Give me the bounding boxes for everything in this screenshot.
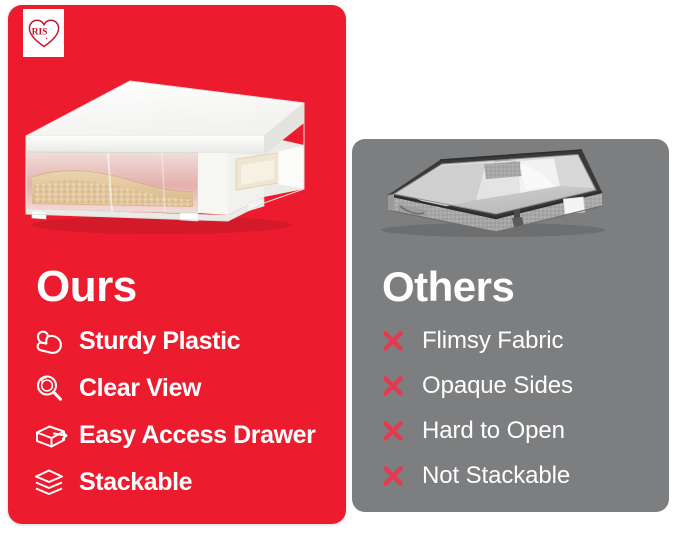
stacked-layers-icon — [33, 466, 73, 500]
cross-mark-icon — [381, 459, 415, 493]
feature-label: Flimsy Fabric — [422, 329, 563, 353]
ours-heading: Ours — [36, 265, 137, 309]
svg-text:RIS: RIS — [31, 28, 47, 38]
others-heading: Others — [382, 266, 514, 308]
others-feature-flimsy-fabric: Flimsy Fabric — [381, 318, 666, 363]
ours-product-image — [12, 73, 312, 238]
others-feature-hard-to-open: Hard to Open — [381, 408, 666, 453]
cross-mark-icon — [381, 324, 415, 358]
open-drawer-icon — [33, 419, 73, 453]
feature-label: Clear View — [79, 376, 201, 401]
feature-label: Hard to Open — [422, 419, 565, 443]
feature-label: Stackable — [79, 470, 192, 495]
brand-logo-badge: RIS — [23, 9, 64, 57]
feature-label: Easy Access Drawer — [79, 423, 316, 448]
muscle-arm-icon — [33, 325, 73, 359]
ours-feature-list: Sturdy Plastic Clear View — [33, 318, 333, 506]
ours-feature-easy-access-drawer: Easy Access Drawer — [33, 412, 333, 459]
iris-heart-logo-icon: RIS — [27, 16, 61, 50]
ours-feature-stackable: Stackable — [33, 459, 333, 506]
ours-feature-clear-view: Clear View — [33, 365, 333, 412]
feature-label: Opaque Sides — [422, 374, 573, 398]
others-feature-list: Flimsy Fabric Opaque Sides Hard to Open — [381, 318, 666, 498]
feature-label: Not Stackable — [422, 464, 570, 488]
cross-mark-icon — [381, 369, 415, 403]
cross-mark-icon — [381, 414, 415, 448]
others-feature-opaque-sides: Opaque Sides — [381, 363, 666, 408]
feature-label: Sturdy Plastic — [79, 329, 240, 354]
ours-feature-sturdy-plastic: Sturdy Plastic — [33, 318, 333, 365]
comparison-infographic: RIS — [0, 0, 679, 538]
others-feature-not-stackable: Not Stackable — [381, 453, 666, 498]
others-product-image — [368, 140, 613, 240]
magnifier-icon — [33, 372, 73, 406]
